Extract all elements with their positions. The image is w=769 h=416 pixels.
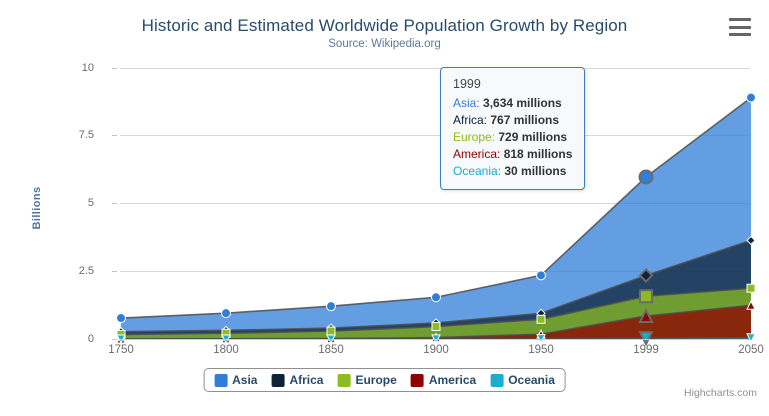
tooltip-series-name: Africa: <box>453 113 490 127</box>
marker-europe[interactable] <box>432 323 440 331</box>
tooltip-row: America: 818 millions <box>453 146 572 163</box>
tooltip-header: 1999 <box>453 76 572 95</box>
x-axis-tick-label: 1800 <box>191 344 261 356</box>
chart-tooltip: 1999 Asia: 3,634 millionsAfrica: 767 mil… <box>440 67 585 190</box>
tooltip-series-value: 818 millions <box>504 147 573 161</box>
x-axis-tick-label: 1950 <box>506 344 576 356</box>
tooltip-row: Africa: 767 millions <box>453 112 572 129</box>
x-axis-tick-label: 2050 <box>716 344 769 356</box>
legend-item-america[interactable]: America <box>411 373 476 387</box>
marker-asia[interactable] <box>747 93 756 102</box>
tooltip-row: Asia: 3,634 millions <box>453 95 572 112</box>
legend-label-america: America <box>429 373 476 387</box>
tooltip-row: Europe: 729 millions <box>453 129 572 146</box>
x-axis-tick-label: 1850 <box>296 344 366 356</box>
legend-item-asia[interactable]: Asia <box>214 373 257 387</box>
legend-swatch-africa <box>271 374 284 387</box>
series-layer <box>117 93 756 344</box>
legend-label-africa: Africa <box>289 373 323 387</box>
marker-asia[interactable] <box>117 314 126 323</box>
marker-asia[interactable] <box>432 293 441 302</box>
legend-label-asia: Asia <box>232 373 257 387</box>
tooltip-row: Oceania: 30 millions <box>453 163 572 180</box>
tooltip-series-value: 30 millions <box>504 164 566 178</box>
marker-asia[interactable] <box>537 271 546 280</box>
x-axis-line <box>120 339 750 340</box>
marker-europe[interactable] <box>640 290 652 302</box>
marker-europe[interactable] <box>537 315 545 323</box>
x-axis-tick-label: 1750 <box>86 344 156 356</box>
legend-swatch-oceania <box>490 374 503 387</box>
legend-swatch-asia <box>214 374 227 387</box>
legend-label-oceania: Oceania <box>508 373 555 387</box>
marker-asia[interactable] <box>327 302 336 311</box>
tooltip-rows: Asia: 3,634 millionsAfrica: 767 millions… <box>453 95 572 180</box>
chart-legend: Asia Africa Europe America Oceania <box>203 368 566 392</box>
legend-item-africa[interactable]: Africa <box>271 373 323 387</box>
tooltip-series-value: 729 millions <box>498 130 567 144</box>
marker-europe[interactable] <box>747 284 755 292</box>
x-axis-tick-label: 1900 <box>401 344 471 356</box>
legend-swatch-america <box>411 374 424 387</box>
legend-item-europe[interactable]: Europe <box>337 373 396 387</box>
tooltip-series-value: 3,634 millions <box>483 96 562 110</box>
tooltip-series-name: Europe: <box>453 130 498 144</box>
tooltip-series-name: America: <box>453 147 504 161</box>
legend-label-europe: Europe <box>355 373 396 387</box>
tooltip-series-name: Asia: <box>453 96 483 110</box>
marker-asia[interactable] <box>640 170 653 183</box>
stacked-areas <box>121 98 751 339</box>
highcharts-container: Historic and Estimated Worldwide Populat… <box>0 0 769 416</box>
tooltip-series-name: Oceania: <box>453 164 504 178</box>
legend-item-oceania[interactable]: Oceania <box>490 373 555 387</box>
tooltip-series-value: 767 millions <box>490 113 559 127</box>
marker-asia[interactable] <box>222 309 231 318</box>
x-axis-tick-label: 1999 <box>611 344 681 356</box>
highcharts-credit[interactable]: Highcharts.com <box>684 387 757 399</box>
legend-swatch-europe <box>337 374 350 387</box>
